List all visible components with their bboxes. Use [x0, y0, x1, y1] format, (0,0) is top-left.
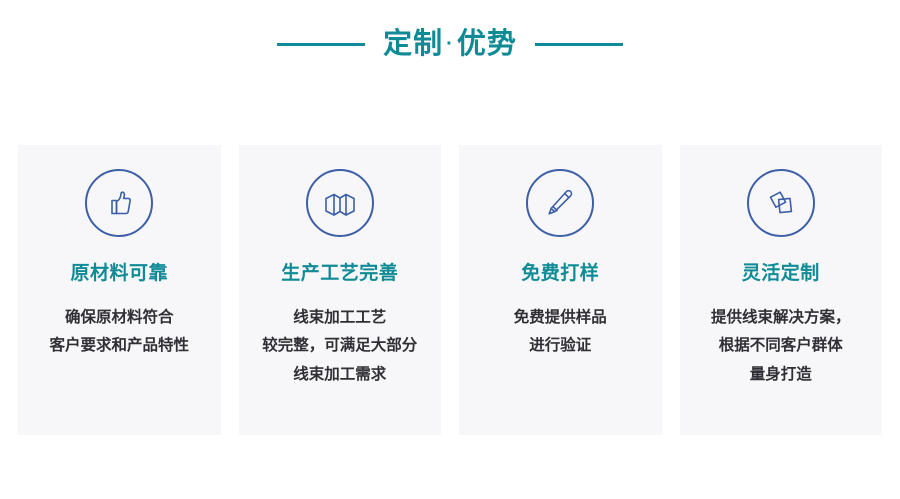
- page-title: 定制·优势: [383, 30, 517, 59]
- promo-panel: 定制·优势 原材料可靠 确保原材料符合 客户要求和产品特性: [0, 0, 900, 499]
- card-desc-line: 确保原材料符合: [49, 304, 189, 333]
- advantage-card: 免费打样 免费提供样品 进行验证: [459, 145, 662, 435]
- heading-text-left: 定制: [383, 28, 443, 60]
- card-desc-line: 较完整，可满足大部分: [262, 332, 417, 361]
- heading-rule-right: [535, 43, 623, 46]
- card-title: 生产工艺完善: [281, 263, 398, 286]
- card-description: 免费提供样品 进行验证: [506, 304, 615, 361]
- heading-rule-left: [277, 43, 365, 46]
- card-title: 免费打样: [521, 263, 599, 286]
- card-description: 确保原材料符合 客户要求和产品特性: [41, 304, 197, 361]
- card-title: 灵活定制: [742, 263, 820, 286]
- advantage-card-list: 原材料可靠 确保原材料符合 客户要求和产品特性 生产工艺完善 线束加工工艺 较完…: [18, 145, 882, 435]
- advantage-card: 原材料可靠 确保原材料符合 客户要求和产品特性: [18, 145, 221, 435]
- layered-cards-icon: [747, 169, 815, 237]
- card-desc-line: 客户要求和产品特性: [49, 332, 189, 361]
- card-desc-line: 线束加工工艺: [262, 304, 417, 333]
- folded-map-icon: [306, 169, 374, 237]
- card-desc-line: 进行验证: [514, 332, 607, 361]
- advantage-card: 灵活定制 提供线束解决方案， 根据不同客户群体 量身打造: [680, 145, 883, 435]
- heading-separator: ·: [443, 33, 457, 55]
- advantage-card: 生产工艺完善 线束加工工艺 较完整，可满足大部分 线束加工需求: [239, 145, 442, 435]
- card-description: 提供线束解决方案， 根据不同客户群体 量身打造: [703, 304, 859, 390]
- card-desc-line: 量身打造: [711, 361, 851, 390]
- thumbs-up-icon: [85, 169, 153, 237]
- card-desc-line: 免费提供样品: [514, 304, 607, 333]
- heading-text-right: 优势: [457, 28, 517, 60]
- section-heading: 定制·优势: [0, 30, 900, 59]
- card-title: 原材料可靠: [70, 263, 168, 286]
- card-description: 线束加工工艺 较完整，可满足大部分 线束加工需求: [254, 304, 425, 390]
- card-desc-line: 根据不同客户群体: [711, 332, 851, 361]
- card-desc-line: 线束加工需求: [262, 361, 417, 390]
- card-desc-line: 提供线束解决方案，: [711, 304, 851, 333]
- pencil-icon: [526, 169, 594, 237]
